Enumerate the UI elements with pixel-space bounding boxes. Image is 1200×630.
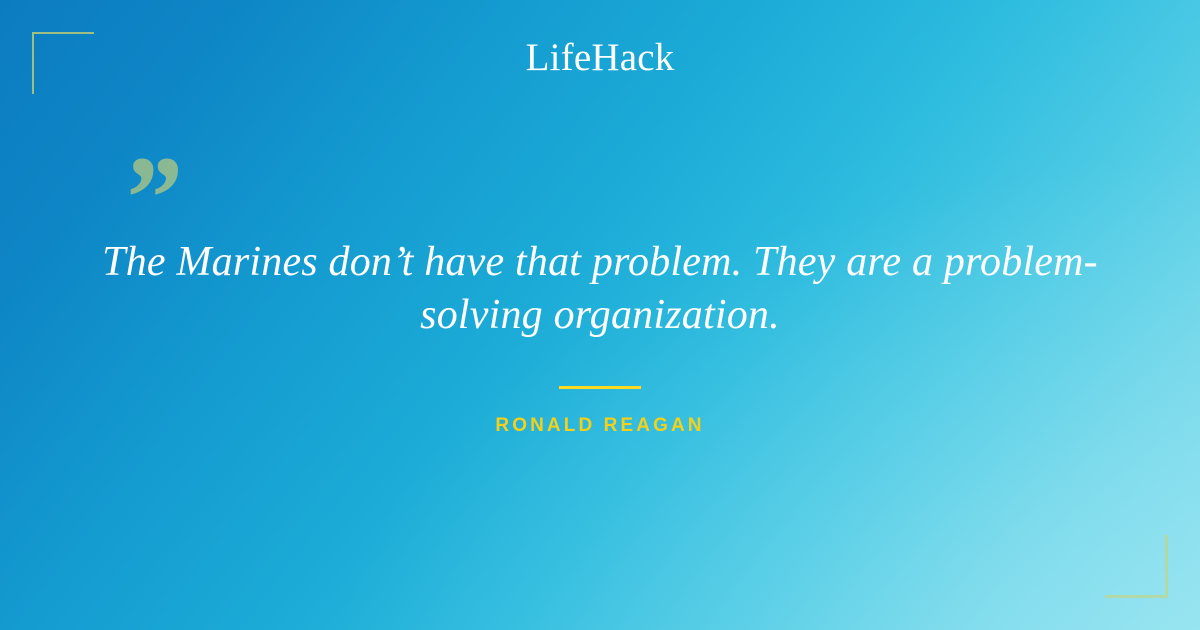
corner-bracket-bottom-right-icon	[1105, 535, 1168, 598]
quote-content: The Marines don’t have that problem. The…	[0, 236, 1200, 437]
author-divider	[559, 386, 641, 389]
quote-author: Ronald Reagan	[96, 415, 1104, 437]
lifehack-logo[interactable]: LifeHack	[0, 38, 1200, 77]
quote-card: LifeHack ” The Marines don’t have that p…	[0, 0, 1200, 630]
quote-text: The Marines don’t have that problem. The…	[96, 236, 1104, 342]
